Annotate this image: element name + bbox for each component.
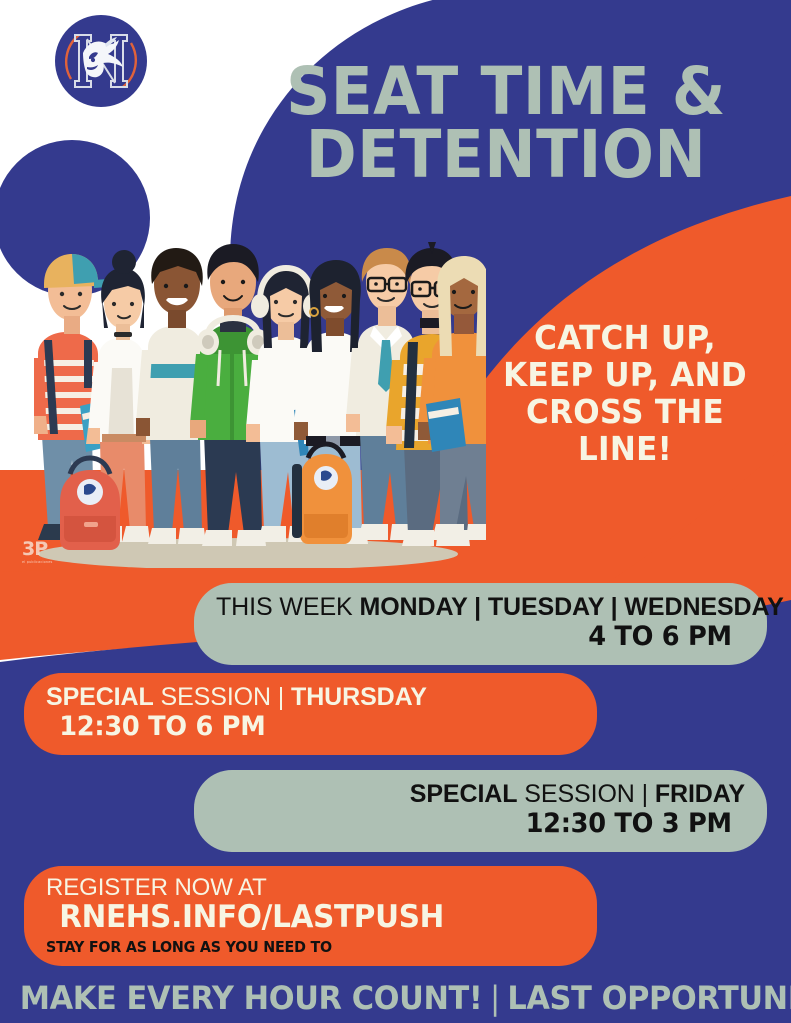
- friday-label-line: SPECIAL SESSION | FRIDAY: [216, 781, 745, 807]
- schedule-pill-friday: SPECIAL SESSION | FRIDAY 12:30 TO 3 PM: [194, 770, 767, 852]
- thursday-time: 12:30 TO 6 PM: [59, 713, 562, 741]
- tagline-line-1: CATCH UP,: [484, 320, 766, 357]
- school-logo: [53, 13, 149, 109]
- tagline-line-4: LINE!: [484, 431, 766, 468]
- watermark-mark: 3P: [22, 538, 47, 560]
- designer-watermark: 3P el publicaciones: [22, 540, 68, 574]
- friday-session: SESSION |: [524, 780, 655, 808]
- register-note: STAY FOR AS LONG AS YOU NEED TO: [46, 938, 549, 956]
- footer-left-text: MAKE EVERY HOUR COUNT!: [20, 979, 483, 1017]
- tagline: CATCH UP, KEEP UP, AND CROSS THE LINE!: [484, 320, 766, 468]
- students-illustration: [8, 228, 486, 568]
- friday-time: 12:30 TO 3 PM: [229, 810, 732, 838]
- friday-special: SPECIAL: [410, 780, 518, 808]
- watermark-subtitle: el publicaciones: [22, 561, 68, 564]
- this-week-prefix: THIS WEEK: [216, 593, 359, 621]
- title-line-2: DETENTION: [255, 123, 757, 186]
- footer-banner: MAKE EVERY HOUR COUNT!|LAST OPPORTUNITY: [20, 979, 771, 1017]
- tagline-line-2: KEEP UP, AND: [484, 357, 766, 394]
- this-week-time: 4 TO 6 PM: [229, 623, 732, 651]
- this-week-days: MONDAY | TUESDAY | WEDNESDAY: [359, 593, 783, 621]
- thursday-session: SESSION |: [161, 683, 292, 711]
- page-title: SEAT TIME & DETENTION: [255, 60, 757, 187]
- thursday-special: SPECIAL: [46, 683, 154, 711]
- friday-day: FRIDAY: [655, 780, 745, 808]
- this-week-label-line: THIS WEEK MONDAY | TUESDAY | WEDNESDAY: [216, 594, 745, 620]
- footer-separator: |: [482, 979, 507, 1017]
- register-url[interactable]: RNEHS.INFO/LASTPUSH: [59, 901, 562, 934]
- poster-root: SEAT TIME & DETENTION CATCH UP, KEEP UP,…: [0, 0, 791, 1023]
- thursday-label-line: SPECIAL SESSION | THURSDAY: [46, 684, 575, 710]
- schedule-pill-thursday: SPECIAL SESSION | THURSDAY 12:30 TO 6 PM: [24, 673, 597, 755]
- thursday-day: THURSDAY: [291, 683, 427, 711]
- register-prompt: REGISTER NOW AT: [46, 875, 575, 900]
- schedule-pill-this-week: THIS WEEK MONDAY | TUESDAY | WEDNESDAY 4…: [194, 583, 767, 665]
- register-pill[interactable]: REGISTER NOW AT RNEHS.INFO/LASTPUSH STAY…: [24, 866, 597, 966]
- tagline-line-3: CROSS THE: [484, 394, 766, 431]
- footer-right-text: LAST OPPORTUNITY: [507, 979, 791, 1017]
